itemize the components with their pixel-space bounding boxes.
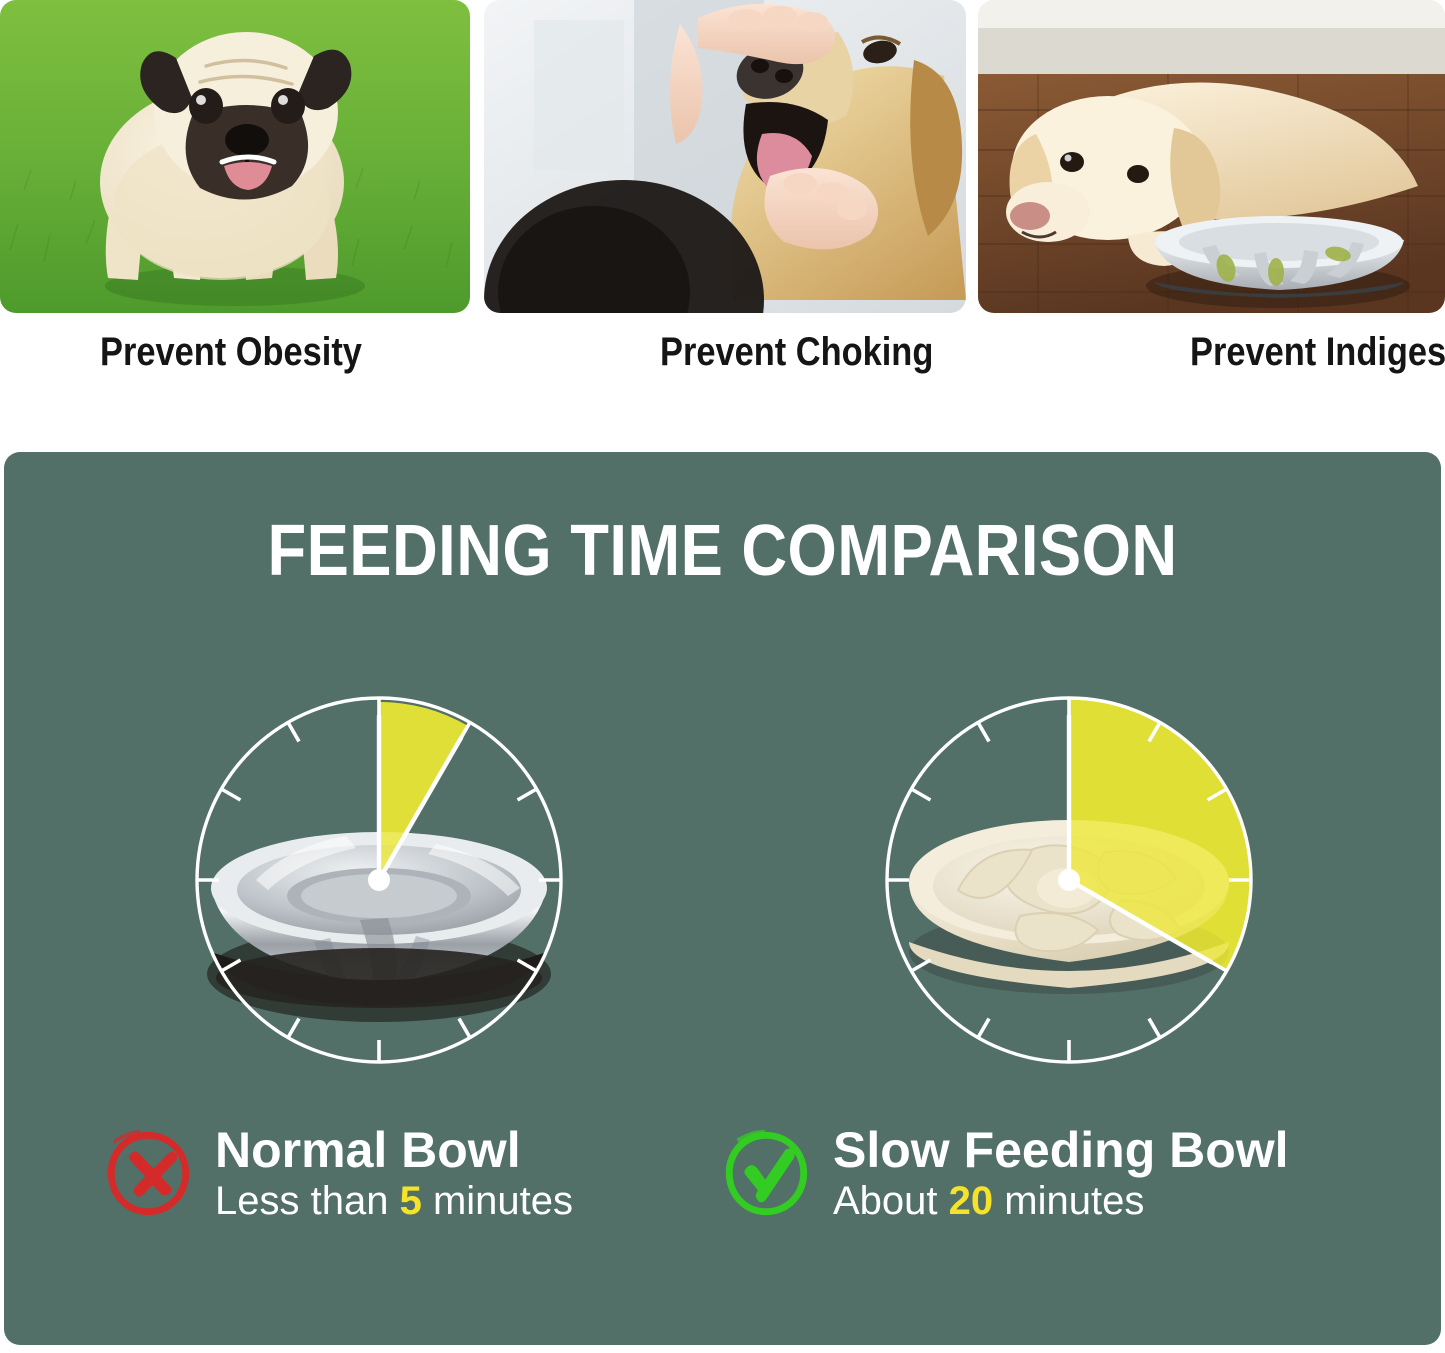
product-infographic: Prevent Obesity Prevent Choking Prevent …: [0, 0, 1445, 1353]
green-check-circle-icon: [717, 1125, 815, 1223]
result-text-slow-feeding-bowl: Slow Feeding Bowl About 20 minutes: [833, 1124, 1289, 1224]
result-subtitle-normal-bowl: Less than 5 minutes: [215, 1179, 573, 1224]
slow-feeding-bowl-clock: [854, 652, 1284, 1092]
result-title-normal-bowl: Normal Bowl: [215, 1124, 573, 1177]
caption-prevent-choking: Prevent Choking: [660, 330, 933, 375]
result-normal-bowl: Normal Bowl Less than 5 minutes: [99, 1124, 573, 1224]
page-title: FEEDING TIME COMPARISON: [90, 510, 1355, 592]
benefit-captions: Prevent Obesity Prevent Choking Prevent …: [0, 330, 1445, 410]
comparison-results: Normal Bowl Less than 5 minutes Slow Fee…: [4, 1124, 1441, 1264]
clock-comparison-row: [4, 652, 1441, 1102]
normal-bowl-clock: [164, 652, 594, 1092]
caption-prevent-indigestion: Prevent Indigestion: [1190, 330, 1445, 375]
benefit-photo-prevent-choking: [484, 0, 966, 313]
result-sub-suffix: minutes: [422, 1179, 573, 1223]
benefit-photo-prevent-obesity: [0, 0, 470, 313]
result-sub-value: 5: [400, 1179, 422, 1223]
benefit-photo-prevent-indigestion: [978, 0, 1445, 313]
feeding-time-comparison-panel: FEEDING TIME COMPARISON: [4, 452, 1441, 1345]
caption-prevent-obesity: Prevent Obesity: [100, 330, 362, 375]
result-title-slow-feeding-bowl: Slow Feeding Bowl: [833, 1124, 1289, 1177]
result-subtitle-slow-feeding-bowl: About 20 minutes: [833, 1179, 1289, 1224]
result-slow-feeding-bowl: Slow Feeding Bowl About 20 minutes: [717, 1124, 1289, 1224]
result-text-normal-bowl: Normal Bowl Less than 5 minutes: [215, 1124, 573, 1224]
benefit-photo-strip: [0, 0, 1445, 313]
result-sub-suffix: minutes: [993, 1179, 1144, 1223]
red-cross-circle-icon: [99, 1125, 197, 1223]
result-sub-value: 20: [949, 1179, 994, 1223]
result-sub-prefix: About: [833, 1179, 949, 1223]
result-sub-prefix: Less than: [215, 1179, 400, 1223]
